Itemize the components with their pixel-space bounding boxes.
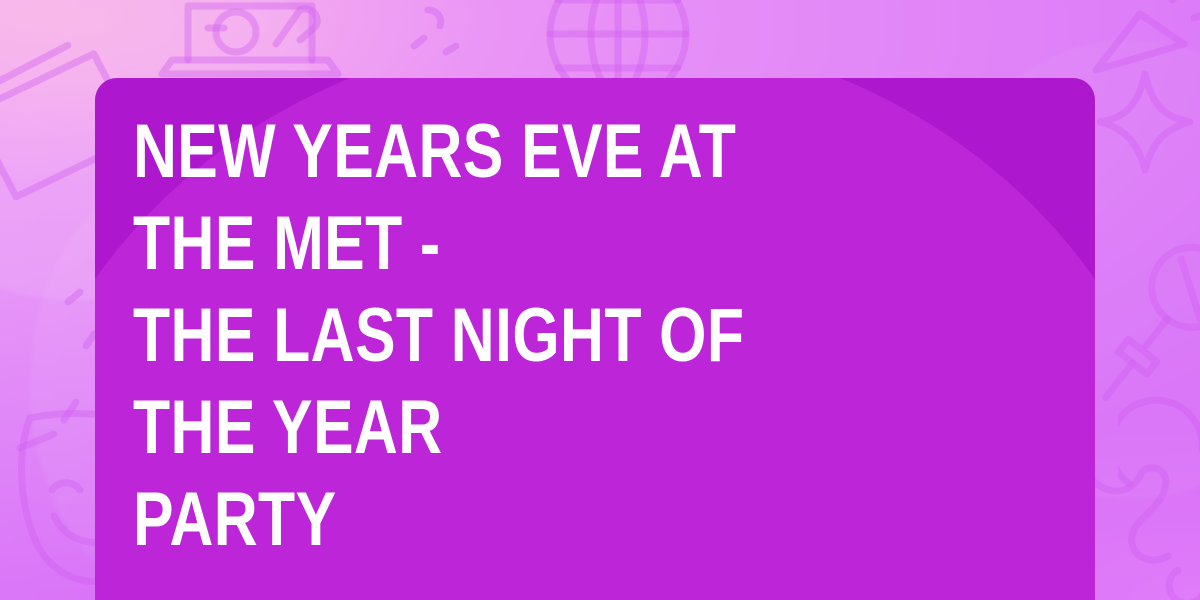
streamer-icon bbox=[1118, 388, 1200, 498]
event-card: New Years Eve at the Met - The Last Nigh… bbox=[95, 78, 1095, 600]
event-datetime: Wed, 31 Dec at 09:00 PM bbox=[133, 566, 872, 600]
event-banner: New Years Eve at the Met - The Last Nigh… bbox=[0, 0, 1200, 600]
party-popper-icon bbox=[1086, 0, 1200, 88]
event-card-content: New Years Eve at the Met - The Last Nigh… bbox=[133, 106, 1057, 600]
confetti-icon bbox=[398, 2, 468, 82]
event-title: New Years Eve at the Met - The Last Nigh… bbox=[133, 106, 872, 566]
